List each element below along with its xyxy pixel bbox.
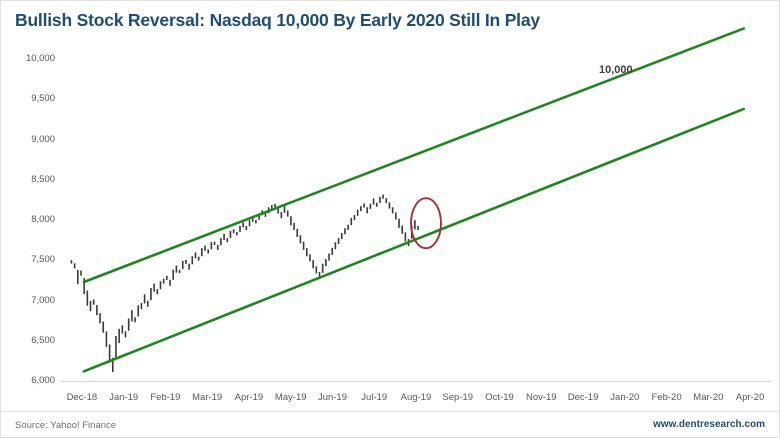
site-link[interactable]: www.dentresearch.com xyxy=(653,419,765,430)
upper-trendline xyxy=(84,28,744,282)
target-annotation-label: 10,000 xyxy=(599,64,633,76)
footer-divider xyxy=(1,411,780,412)
source-note: Source: Yahoo! Finance xyxy=(15,420,116,431)
chart-figure: Bullish Stock Reversal: Nasdaq 10,000 By… xyxy=(0,0,780,438)
plot-area xyxy=(1,1,780,438)
